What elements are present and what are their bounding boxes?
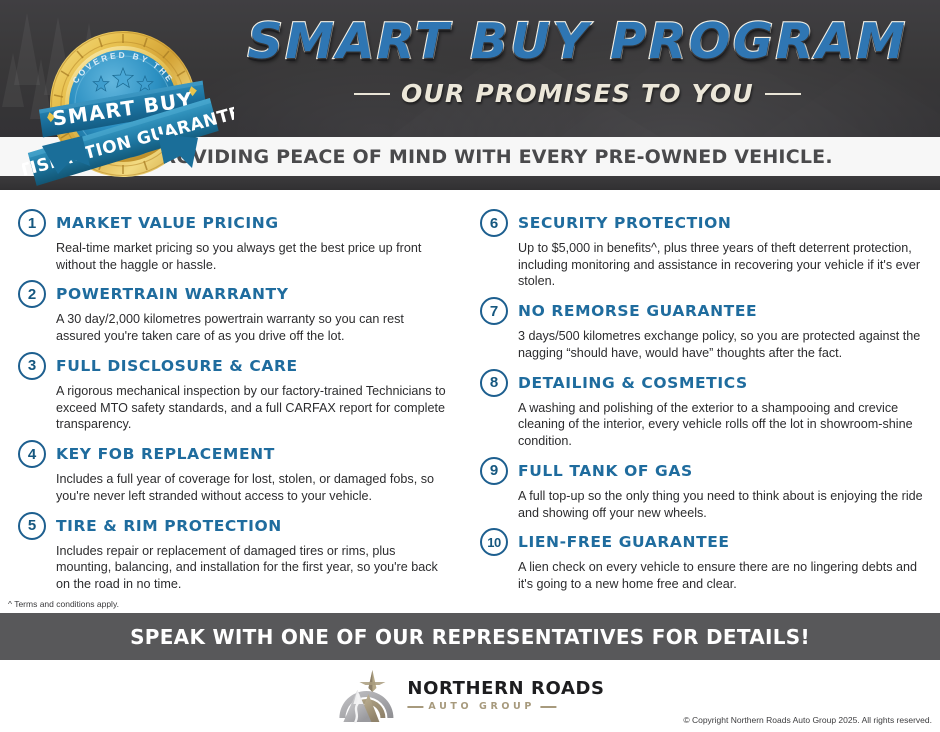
promise-header: 7 NO REMORSE GUARANTEE bbox=[480, 297, 924, 325]
company-logo: NORTHERN ROADS AUTO GROUP bbox=[335, 668, 604, 724]
divider-gap bbox=[0, 190, 940, 197]
promise-body: Up to $5,000 in benefits^, plus three ye… bbox=[518, 240, 924, 290]
promise-item: 2 POWERTRAIN WARRANTY A 30 day/2,000 kil… bbox=[18, 280, 448, 344]
promises-content: 1 MARKET VALUE PRICING Real-time market … bbox=[0, 197, 940, 613]
promise-number-badge: 2 bbox=[18, 280, 46, 308]
promise-title: SECURITY PROTECTION bbox=[518, 214, 732, 232]
promise-body: Includes repair or replacement of damage… bbox=[56, 543, 448, 593]
header-text-block: SMART BUY PROGRAM OUR PROMISES TO YOU bbox=[215, 0, 940, 137]
promise-item: 6 SECURITY PROTECTION Up to $5,000 in be… bbox=[480, 209, 924, 290]
promise-title: MARKET VALUE PRICING bbox=[56, 214, 279, 232]
promise-title: LIEN-FREE GUARANTEE bbox=[518, 533, 730, 551]
promises-right-column: 6 SECURITY PROTECTION Up to $5,000 in be… bbox=[470, 209, 940, 613]
promise-number-badge: 7 bbox=[480, 297, 508, 325]
logo-dash-right-icon bbox=[540, 706, 556, 708]
copyright-text: © Copyright Northern Roads Auto Group 20… bbox=[683, 715, 932, 725]
promise-header: 9 FULL TANK OF GAS bbox=[480, 457, 924, 485]
promise-item: 5 TIRE & RIM PROTECTION Includes repair … bbox=[18, 512, 448, 593]
promise-number-badge: 8 bbox=[480, 369, 508, 397]
promise-item: 9 FULL TANK OF GAS A full top-up so the … bbox=[480, 457, 924, 521]
promise-header: 2 POWERTRAIN WARRANTY bbox=[18, 280, 448, 308]
cta-bar: SPEAK WITH ONE OF OUR REPRESENTATIVES FO… bbox=[0, 613, 940, 660]
promise-item: 3 FULL DISCLOSURE & CARE A rigorous mech… bbox=[18, 352, 448, 433]
dash-right-icon bbox=[765, 93, 801, 95]
promise-title: DETAILING & COSMETICS bbox=[518, 374, 748, 392]
promise-title: TIRE & RIM PROTECTION bbox=[56, 517, 282, 535]
footer: NORTHERN ROADS AUTO GROUP © Copyright No… bbox=[0, 660, 940, 732]
cta-text: SPEAK WITH ONE OF OUR REPRESENTATIVES FO… bbox=[130, 625, 810, 649]
promise-body: A full top-up so the only thing you need… bbox=[518, 488, 924, 521]
promise-title: KEY FOB REPLACEMENT bbox=[56, 445, 275, 463]
promise-item: 4 KEY FOB REPLACEMENT Includes a full ye… bbox=[18, 440, 448, 504]
promise-number-badge: 5 bbox=[18, 512, 46, 540]
promise-header: 10 LIEN-FREE GUARANTEE bbox=[480, 528, 924, 556]
promise-header: 4 KEY FOB REPLACEMENT bbox=[18, 440, 448, 468]
promise-title: NO REMORSE GUARANTEE bbox=[518, 302, 757, 320]
promise-body: Real-time market pricing so you always g… bbox=[56, 240, 448, 273]
promises-left-column: 1 MARKET VALUE PRICING Real-time market … bbox=[0, 209, 470, 613]
promise-body: A lien check on every vehicle to ensure … bbox=[518, 559, 924, 592]
badge-seal-icon: COVERED BY THE SMART BUY SATISFACTION bbox=[22, 16, 234, 186]
smart-buy-program-flyer: SMART BUY PROGRAM OUR PROMISES TO YOU PR… bbox=[0, 0, 940, 722]
promise-header: 1 MARKET VALUE PRICING bbox=[18, 209, 448, 237]
logo-company-subtitle: AUTO GROUP bbox=[428, 702, 535, 712]
promise-body: A rigorous mechanical inspection by our … bbox=[56, 383, 448, 433]
page-title: SMART BUY PROGRAM bbox=[215, 17, 940, 66]
promise-header: 3 FULL DISCLOSURE & CARE bbox=[18, 352, 448, 380]
promise-header: 5 TIRE & RIM PROTECTION bbox=[18, 512, 448, 540]
logo-dash-left-icon bbox=[407, 706, 423, 708]
promise-body: A 30 day/2,000 kilometres powertrain war… bbox=[56, 311, 448, 344]
header-subtitle-row: OUR PROMISES TO YOU bbox=[215, 79, 940, 108]
promise-item: 10 LIEN-FREE GUARANTEE A lien check on e… bbox=[480, 528, 924, 592]
promise-body: 3 days/500 kilometres exchange policy, s… bbox=[518, 328, 924, 361]
promise-title: FULL DISCLOSURE & CARE bbox=[56, 357, 298, 375]
promise-body: Includes a full year of coverage for los… bbox=[56, 471, 448, 504]
dash-left-icon bbox=[354, 93, 390, 95]
smart-buy-satisfaction-guarantee-badge: COVERED BY THE SMART BUY SATISFACTION bbox=[22, 16, 234, 186]
logo-text-block: NORTHERN ROADS AUTO GROUP bbox=[407, 680, 604, 711]
promise-number-badge: 4 bbox=[18, 440, 46, 468]
promise-number-badge: 9 bbox=[480, 457, 508, 485]
promise-number-badge: 10 bbox=[480, 528, 508, 556]
promise-item: 8 DETAILING & COSMETICS A washing and po… bbox=[480, 369, 924, 450]
promise-number-badge: 6 bbox=[480, 209, 508, 237]
header-subtitle: OUR PROMISES TO YOU bbox=[401, 79, 754, 108]
promise-title: POWERTRAIN WARRANTY bbox=[56, 285, 289, 303]
promise-bar-text: PROVIDING PEACE OF MIND WITH EVERY PRE-O… bbox=[147, 146, 833, 168]
promise-item: 1 MARKET VALUE PRICING Real-time market … bbox=[18, 209, 448, 273]
promise-body: A washing and polishing of the exterior … bbox=[518, 400, 924, 450]
logo-subtitle-row: AUTO GROUP bbox=[407, 702, 604, 712]
logo-company-name: NORTHERN ROADS bbox=[407, 680, 604, 699]
promise-title: FULL TANK OF GAS bbox=[518, 462, 693, 480]
promise-header: 6 SECURITY PROTECTION bbox=[480, 209, 924, 237]
northern-roads-mountain-compass-icon bbox=[335, 668, 397, 724]
promise-item: 7 NO REMORSE GUARANTEE 3 days/500 kilome… bbox=[480, 297, 924, 361]
promise-number-badge: 3 bbox=[18, 352, 46, 380]
promise-number-badge: 1 bbox=[18, 209, 46, 237]
promise-header: 8 DETAILING & COSMETICS bbox=[480, 369, 924, 397]
terms-footnote: ^ Terms and conditions apply. bbox=[8, 599, 119, 609]
